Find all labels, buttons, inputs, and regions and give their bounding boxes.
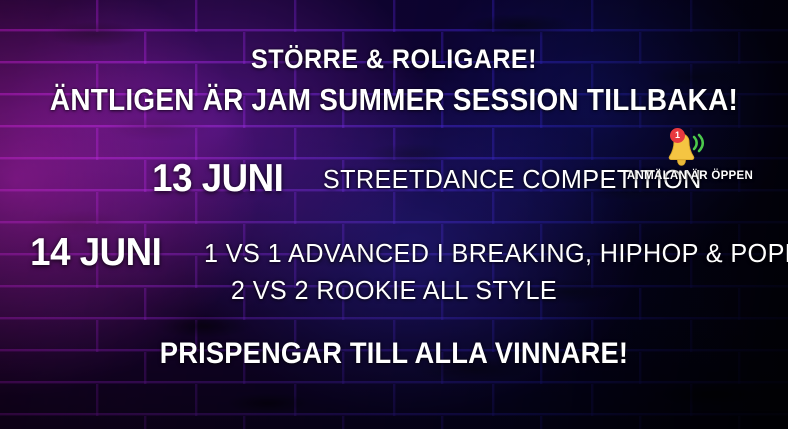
bell-icon: 1: [654, 128, 712, 172]
footer-prize-text: PRISPENGAR TILL ALLA VINNARE!: [35, 337, 752, 371]
headline-line-1: STÖRRE & ROLIGARE!: [28, 44, 761, 75]
notification-badge: 1: [670, 128, 685, 143]
schedule-date-14-juni: 14 JUNI: [30, 231, 161, 275]
registration-open-callout[interactable]: 1 ANMÄLAN ÄR ÖPPEN: [626, 128, 754, 190]
schedule-detail-2vs2-rookie: 2 VS 2 ROOKIE ALL STYLE: [12, 275, 776, 306]
registration-cta-label: ANMÄLAN ÄR ÖPPEN: [626, 170, 754, 182]
poster-content: STÖRRE & ROLIGARE! ÄNTLIGEN ÄR JAM SUMME…: [0, 0, 788, 429]
schedule-detail-1vs1-advanced: 1 VS 1 ADVANCED I BREAKING, HIPHOP & POP…: [204, 238, 788, 269]
schedule-date-13-juni: 13 JUNI: [152, 157, 283, 201]
headline-line-2: ÄNTLIGEN ÄR JAM SUMMER SESSION TILLBAKA!: [39, 82, 748, 118]
event-poster: STÖRRE & ROLIGARE! ÄNTLIGEN ÄR JAM SUMME…: [0, 0, 788, 429]
